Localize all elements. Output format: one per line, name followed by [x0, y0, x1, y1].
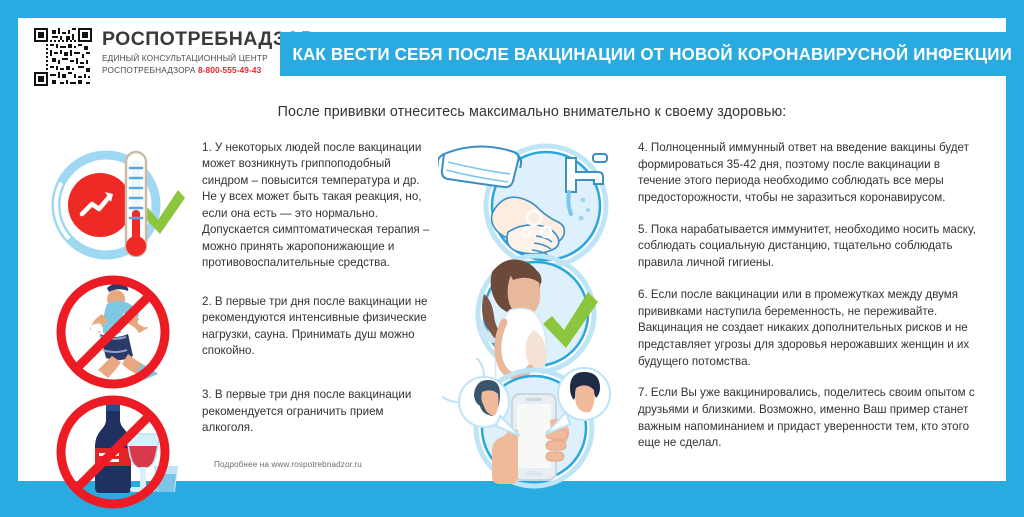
tip-paragraph-5: 5. Пока нарабатывается иммунитет, необхо… — [638, 222, 982, 272]
poster-body: 1. У некоторых людей после вакцинации мо… — [18, 126, 1006, 481]
thermometer-fever-icon — [44, 148, 194, 264]
footer-website-note: Подробнее на www.rospotrebnadzor.ru — [214, 460, 362, 469]
qr-code-icon — [34, 28, 92, 86]
header-banner: КАК ВЕСТИ СЕБЯ ПОСЛЕ ВАКЦИНАЦИИ ОТ НОВОЙ… — [280, 32, 1024, 76]
tip-paragraph-1: 1. У некоторых людей после вакцинации мо… — [202, 140, 434, 272]
poster-frame: РОСПОТРЕБНАДЗОР ЕДИНЫЙ КОНСУЛЬТАЦИОННЫЙ … — [0, 0, 1024, 517]
brand-subtitle-line1: ЕДИНЫЙ КОНСУЛЬТАЦИОННЫЙ ЦЕНТР — [102, 53, 268, 63]
tip-paragraph-7: 7. Если Вы уже вакцинировались, поделите… — [638, 385, 982, 452]
poster-panel: РОСПОТРЕБНАДЗОР ЕДИНЫЙ КОНСУЛЬТАЦИОННЫЙ … — [18, 18, 1006, 481]
hotline-phone: 8-800-555-49-43 — [198, 65, 261, 75]
left-text-column: 1. У некоторых людей после вакцинации мо… — [194, 126, 444, 481]
right-text-column: 4. Полноценный иммунный ответ на введени… — [630, 126, 1006, 481]
brand-subtitle-line2: РОСПОТРЕБНАДЗОРА — [102, 65, 196, 75]
tip-paragraph-3: 3. В первые три дня после вакцинации рек… — [202, 387, 434, 436]
no-exercise-icon — [50, 274, 184, 390]
center-illustration-column — [444, 126, 630, 481]
share-experience-phone-icon — [442, 358, 628, 490]
tip-paragraph-6: 6. Если после вакцинации или в промежутк… — [638, 287, 982, 370]
left-icon-rail — [18, 126, 194, 481]
subtitle: После прививки отнеситесь максимально вн… — [58, 104, 1006, 120]
tip-paragraph-2: 2. В первые три дня после вакцинации не … — [202, 294, 434, 360]
no-alcohol-icon — [50, 394, 184, 510]
poster-header: РОСПОТРЕБНАДЗОР ЕДИНЫЙ КОНСУЛЬТАЦИОННЫЙ … — [18, 18, 1006, 92]
brand-block: РОСПОТРЕБНАДЗОР ЕДИНЫЙ КОНСУЛЬТАЦИОННЫЙ … — [18, 18, 280, 86]
tip-paragraph-4: 4. Полноценный иммунный ответ на введени… — [638, 140, 982, 207]
page-title: КАК ВЕСТИ СЕБЯ ПОСЛЕ ВАКЦИНАЦИИ ОТ НОВОЙ… — [292, 44, 1012, 65]
